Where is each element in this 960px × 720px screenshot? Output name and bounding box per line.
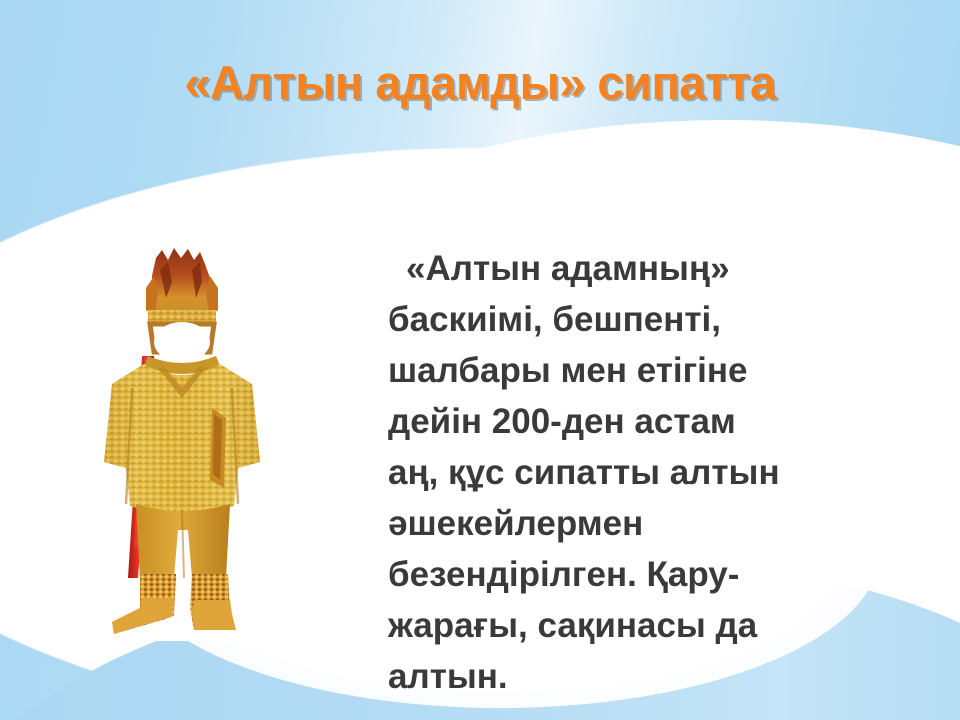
body-line-text: безендірілген. Қару- [388, 555, 739, 594]
boots [112, 574, 236, 634]
body-line: әшекейлермен [388, 498, 858, 549]
armor-tunic [104, 364, 260, 513]
slide-canvas: «Алтын адамды» сипатта [0, 0, 960, 720]
body-line: жарағы, сақинасы да [388, 600, 858, 651]
body-line: «Алтын адамның» [388, 243, 858, 294]
body-paragraph: «Алтын адамның» баскиімі, бешпенті, шалб… [388, 243, 858, 702]
trousers [136, 504, 230, 578]
face-opening [154, 322, 210, 362]
body-line: алтын. [388, 651, 858, 702]
body-line-text: «Алтын адамның» [406, 249, 730, 288]
body-line: дейін 200-ден астам [388, 396, 858, 447]
body-line: баскиімі, бешпенті, [388, 294, 858, 345]
body-line-text: әшекейлермен [388, 504, 643, 543]
body-line-text: аң, құс сипатты алтын [388, 453, 780, 492]
body-line-text: дейін 200-ден астам [388, 402, 736, 441]
body-line-text: алтын. [388, 657, 508, 696]
body-line-text: жарағы, сақинасы да [388, 606, 757, 645]
body-line: аң, құс сипатты алтын [388, 447, 858, 498]
golden-man-figure [84, 248, 284, 640]
slide-title: «Алтын адамды» сипатта [0, 55, 960, 110]
body-line: шалбары мен етігіне [388, 345, 858, 396]
body-line-text: шалбары мен етігіне [388, 351, 748, 390]
body-line: безендірілген. Қару- [388, 549, 858, 600]
body-line-text: баскиімі, бешпенті, [388, 300, 721, 339]
